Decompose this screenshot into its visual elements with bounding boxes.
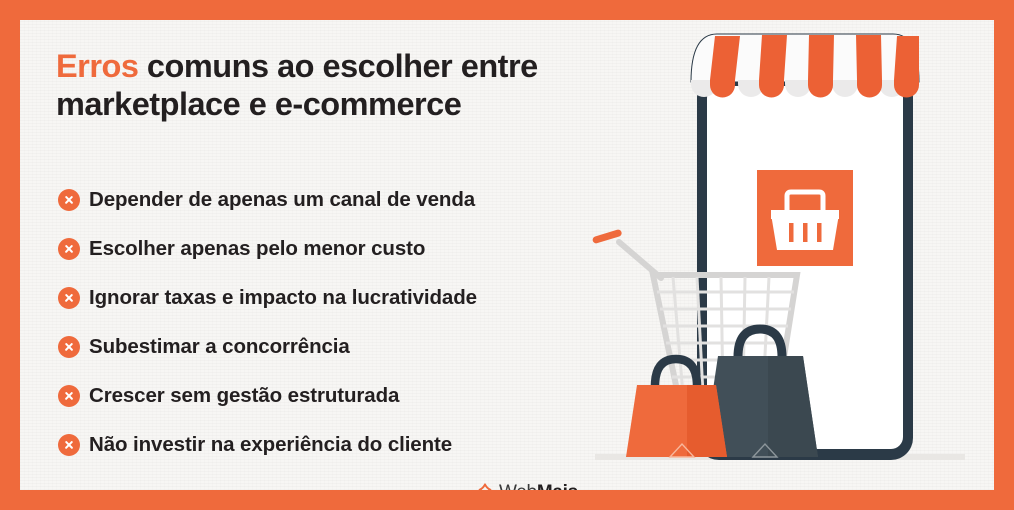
list-item: Depender de apenas um canal de venda: [58, 175, 638, 224]
striped-awning: [691, 34, 919, 98]
x-circle-icon: [58, 434, 80, 456]
content-area: Erros comuns ao escolher entre marketpla…: [20, 20, 994, 490]
list-item: Ignorar taxas e impacto na lucratividade: [58, 273, 638, 322]
x-circle-icon: [58, 189, 80, 211]
mistakes-list: Depender de apenas um canal de venda Esc…: [58, 175, 638, 469]
title-highlight: Erros: [56, 48, 138, 84]
infographic-canvas: Erros comuns ao escolher entre marketpla…: [0, 0, 1014, 510]
list-item-label: Não investir na experiência do cliente: [89, 433, 452, 457]
list-item: Subestimar a concorrência: [58, 322, 638, 371]
brand-logo-text-light: Web: [499, 482, 537, 491]
list-item-label: Crescer sem gestão estruturada: [89, 384, 399, 408]
title-rest: comuns ao escolher entre: [138, 48, 537, 84]
x-circle-icon: [58, 238, 80, 260]
list-item-label: Subestimar a concorrência: [89, 335, 350, 359]
list-item-label: Ignorar taxas e impacto na lucratividade: [89, 286, 477, 310]
list-item-label: Escolher apenas pelo menor custo: [89, 237, 425, 261]
x-circle-icon: [58, 385, 80, 407]
x-circle-icon: [58, 287, 80, 309]
mobile-storefront-illustration: [575, 20, 975, 490]
brand-logo: WebMais: [475, 480, 578, 490]
title-line-2: marketplace e e-commerce: [56, 86, 461, 122]
shopping-basket-icon: [757, 170, 853, 266]
list-item: Escolher apenas pelo menor custo: [58, 224, 638, 273]
brand-logo-text: WebMais: [499, 482, 578, 491]
webmais-diamond-icon: [475, 480, 495, 490]
x-circle-icon: [58, 336, 80, 358]
list-item: Crescer sem gestão estruturada: [58, 371, 638, 420]
brand-logo-text-bold: Mais: [537, 482, 578, 491]
list-item-label: Depender de apenas um canal de venda: [89, 188, 475, 212]
list-item: Não investir na experiência do cliente: [58, 420, 638, 469]
